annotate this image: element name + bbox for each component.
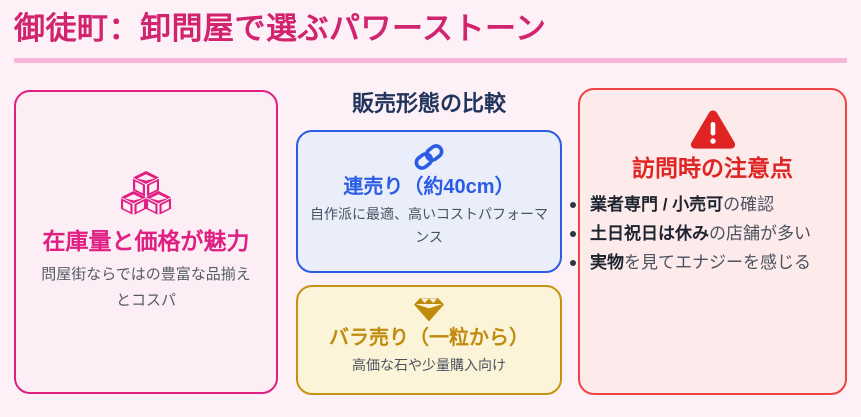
page-title: 御徒町：卸問屋で選ぶパワーストーン xyxy=(14,6,847,52)
caution-item-strong: 土日祝日は休み xyxy=(590,224,709,243)
card-visit-cautions: 訪問時の注意点 業者専門 / 小売可の確認 土日祝日は休みの店舗が多い 実物を見… xyxy=(578,88,847,395)
card-bulk-sale: 連売り（約40cm） 自作派に最適、高いコストパフォーマンス xyxy=(296,130,562,273)
card-stock-and-price: 在庫量と価格が魅力 問屋街ならではの豊富な品揃えとコスパ xyxy=(14,90,278,394)
chain-link-icon xyxy=(412,143,446,171)
caution-item-strong: 業者専門 / 小売可 xyxy=(590,195,723,214)
cubes-icon xyxy=(120,170,172,216)
caution-item-rest: の店舗が多い xyxy=(709,224,811,243)
card-stock-title: 在庫量と価格が魅力 xyxy=(43,226,250,256)
list-item: 土日祝日は休みの店舗が多い xyxy=(566,219,835,248)
card-single-description: 高価な石や少量購入向け xyxy=(310,354,548,377)
gem-icon xyxy=(413,297,445,322)
card-stock-description: 問屋街ならではの豊富な品揃えとコスパ xyxy=(39,262,254,314)
comparison-column: 販売形態の比較 連売り（約40cm） 自作派に最適、高いコストパフォーマンス xyxy=(296,88,562,396)
page-header: 御徒町：卸問屋で選ぶパワーストーン xyxy=(14,6,847,63)
caution-item-rest: を見てエナジーを感じる xyxy=(624,253,811,272)
card-cautions-title: 訪問時の注意点 xyxy=(590,152,835,184)
card-bulk-title: 連売り（約40cm） xyxy=(310,174,548,201)
list-item: 実物を見てエナジーを感じる xyxy=(566,248,835,277)
infographic-page: 御徒町：卸問屋で選ぶパワーストーン xyxy=(0,0,861,417)
warning-triangle-icon xyxy=(689,108,737,150)
comparison-heading: 販売形態の比較 xyxy=(296,88,562,120)
card-bulk-description: 自作派に最適、高いコストパフォーマンス xyxy=(310,203,548,249)
card-single-sale: バラ売り（一粒から） 高価な石や少量購入向け xyxy=(296,285,562,395)
cards-row: 在庫量と価格が魅力 問屋街ならではの豊富な品揃えとコスパ 販売形態の比較 連売り… xyxy=(0,88,861,398)
caution-item-rest: の確認 xyxy=(723,195,774,214)
title-divider xyxy=(14,58,847,63)
caution-list: 業者専門 / 小売可の確認 土日祝日は休みの店舗が多い 実物を見てエナジーを感じ… xyxy=(590,190,835,277)
card-single-title: バラ売り（一粒から） xyxy=(310,325,548,352)
list-item: 業者専門 / 小売可の確認 xyxy=(566,190,835,219)
caution-item-strong: 実物 xyxy=(590,253,624,272)
